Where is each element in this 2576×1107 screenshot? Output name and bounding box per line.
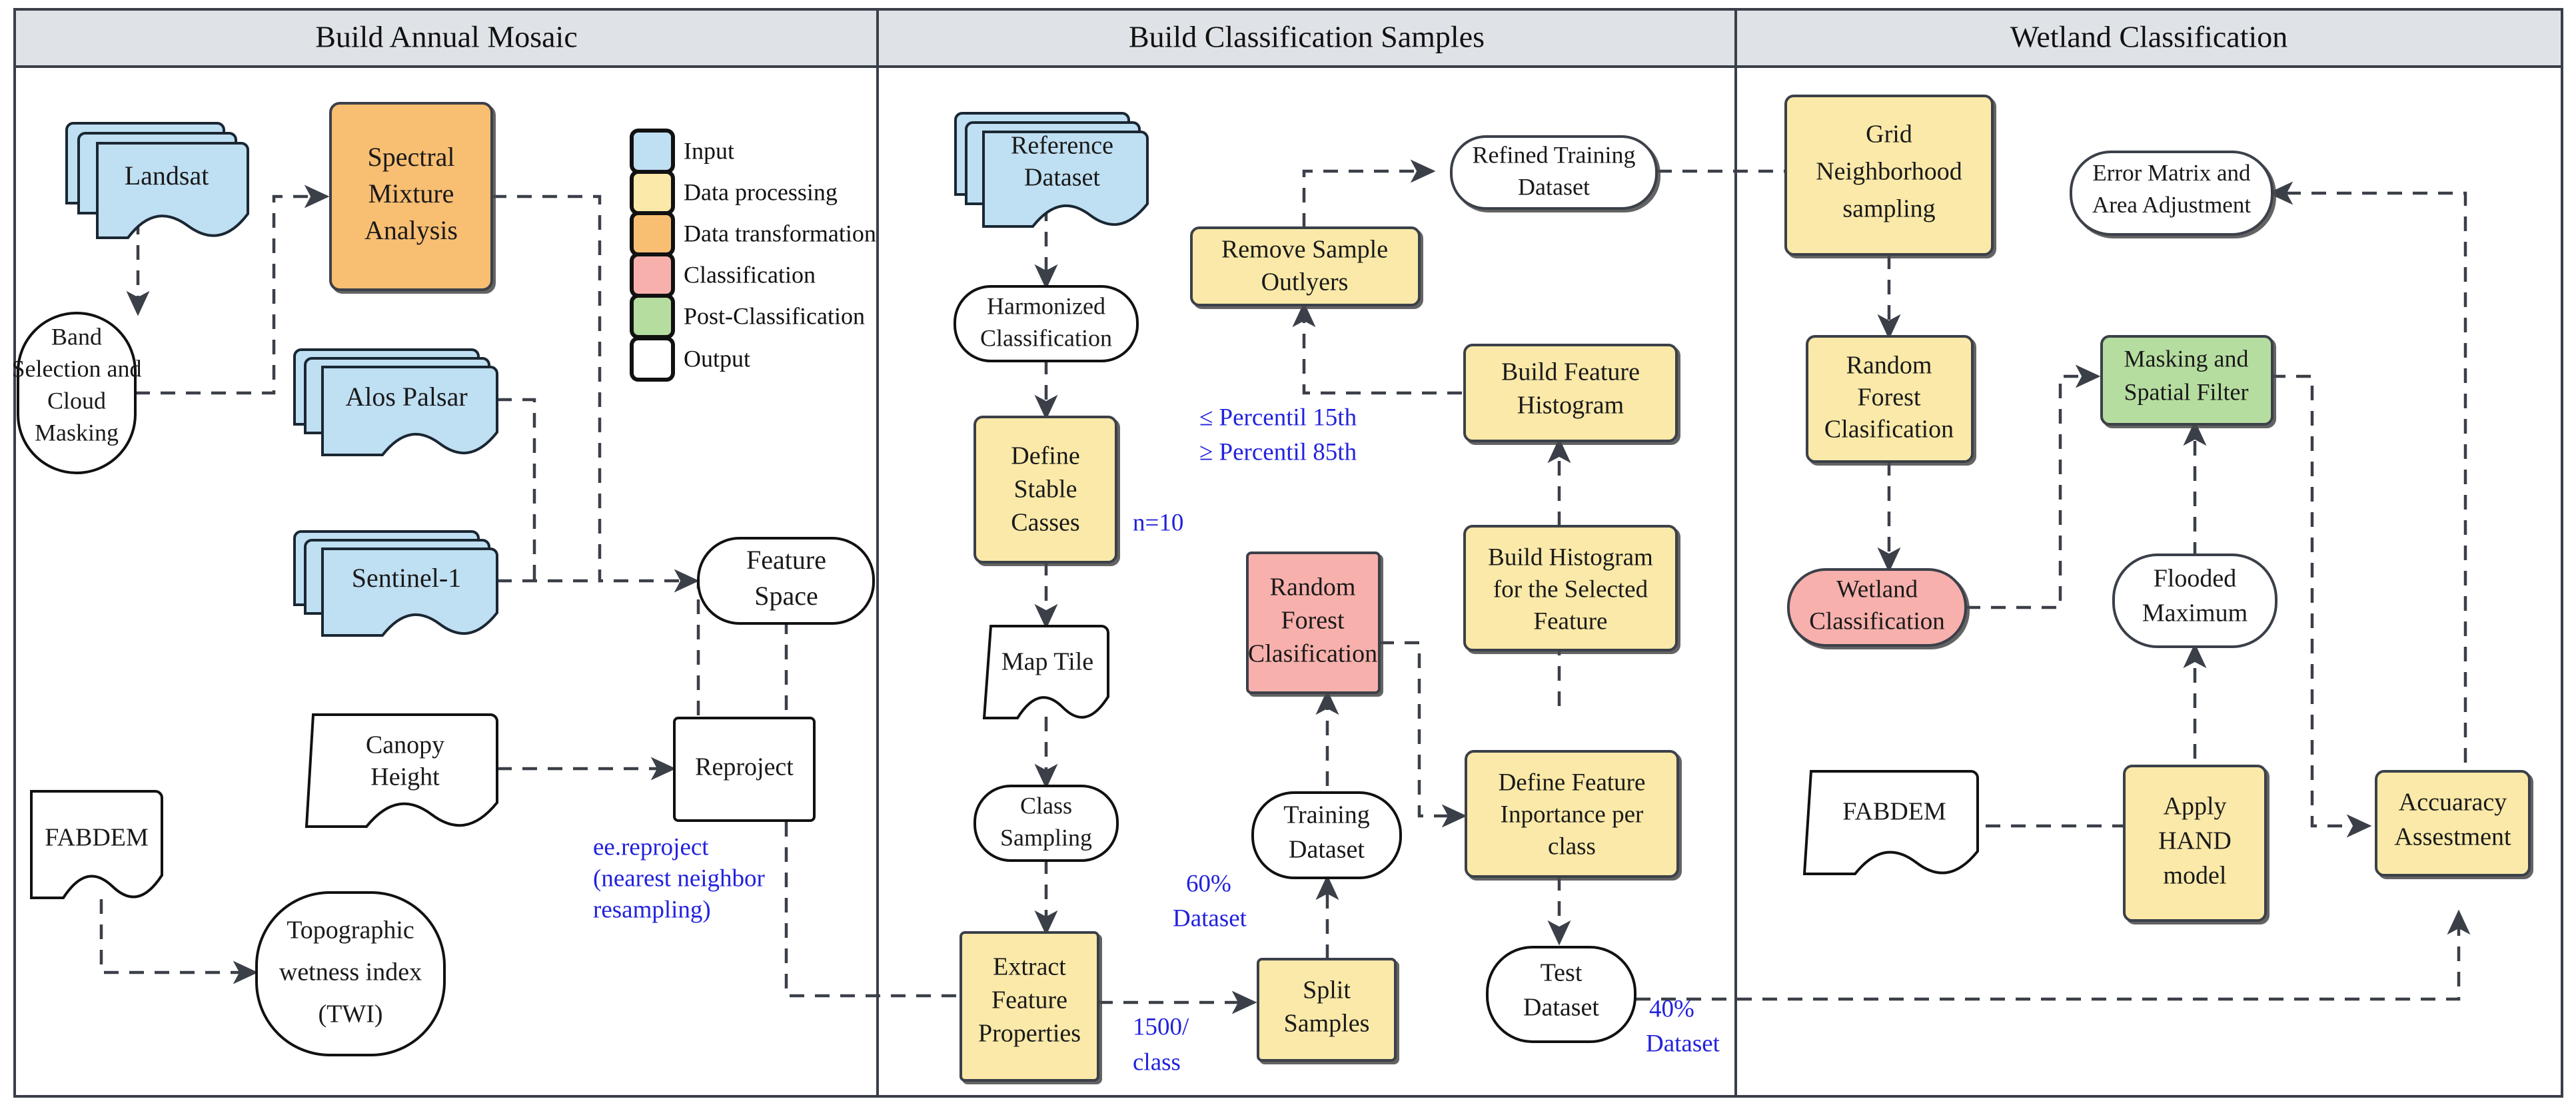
- node-label-line: Extract: [993, 953, 1066, 981]
- node-label-line: Casses: [1011, 509, 1079, 537]
- node-label-line: Error Matrix and: [2092, 160, 2251, 186]
- node-label-line: Random: [1846, 352, 1932, 380]
- node-class-sampling[interactable]: Class Sampling: [975, 786, 1117, 861]
- node-label-line: Grid: [1866, 121, 1912, 149]
- node-label-line: Analysis: [364, 215, 458, 245]
- node-label: FABDEM: [1842, 798, 1946, 826]
- legend-label: Data transformation: [684, 220, 876, 246]
- node-spectral-mixture-analysis[interactable]: Spectral Mixture Analysis: [330, 103, 492, 290]
- panel-title-3: Wetland Classification: [2010, 20, 2288, 54]
- node-sentinel-1[interactable]: Sentinel-1: [295, 532, 497, 635]
- node-label: FABDEM: [45, 824, 149, 852]
- node-label-line: Selection and: [12, 355, 142, 382]
- node-label-line: Dataset: [1024, 164, 1100, 192]
- node-training-dataset[interactable]: Training Dataset: [1253, 793, 1401, 878]
- node-alos-palsar[interactable]: Alos Palsar: [295, 350, 497, 455]
- node-label-line: Split: [1303, 976, 1351, 1004]
- node-refined-training-dataset[interactable]: Refined Training Dataset: [1451, 137, 1656, 208]
- node-label-line: class: [1548, 833, 1596, 860]
- node-band-selection[interactable]: Band Selection and Cloud Masking: [12, 313, 142, 473]
- node-label-line: Class: [1020, 792, 1072, 819]
- node-label-line: Mixture: [368, 179, 454, 208]
- node-label-line: Topographic: [287, 917, 414, 944]
- node-label-line: Feature: [1534, 607, 1608, 635]
- node-label-line: Outlyers: [1261, 268, 1349, 296]
- panel-title-2: Build Classification Samples: [1129, 20, 1485, 54]
- node-label-line: Define: [1011, 442, 1079, 470]
- node-label-line: Wetland: [1836, 575, 1918, 603]
- node-build-histogram-selected-feature[interactable]: Build Histogram for the Selected Feature: [1465, 526, 1676, 650]
- node-label-line: Maximum: [2142, 599, 2248, 627]
- node-label-line: Height: [370, 763, 440, 791]
- node-label-line: Build Histogram: [1488, 544, 1653, 571]
- node-label-line: Sampling: [1000, 824, 1092, 851]
- node-grid-neighborhood-sampling[interactable]: Grid Neighborhood sampling: [1786, 96, 1992, 254]
- node-error-matrix-area-adjustment[interactable]: Error Matrix and Area Adjustment: [2071, 152, 2272, 234]
- node-label-line: Classification: [1809, 607, 1944, 635]
- annotation-line: (nearest neighbor: [593, 865, 765, 892]
- panel-title-1: Build Annual Mosaic: [315, 20, 578, 54]
- node-label-line: Spatial Filter: [2124, 378, 2249, 405]
- node-label-line: sampling: [1842, 195, 1935, 223]
- node-label-line: Area Adjustment: [2092, 192, 2251, 218]
- node-label-line: Samples: [1284, 1010, 1370, 1038]
- node-label-line: Masking and: [2124, 345, 2249, 372]
- node-accuaracy-assestment[interactable]: Accuaracy Assestment: [2376, 771, 2529, 875]
- node-split-samples[interactable]: Split Samples: [1258, 959, 1395, 1060]
- node-remove-sample-outlyers[interactable]: Remove Sample Outlyers: [1191, 228, 1419, 305]
- node-label-line: Feature: [991, 986, 1067, 1014]
- node-random-forest-clasification-2[interactable]: Random Forest Clasification: [1807, 336, 1972, 462]
- node-label-line: Cloud: [47, 387, 106, 414]
- node-label-line: HAND: [2158, 827, 2232, 855]
- node-label-line: wetness index: [279, 958, 422, 986]
- node-label-line: Dataset: [1289, 836, 1365, 864]
- node-label-line: Accuaracy: [2399, 789, 2507, 817]
- node-label-line: Clasification: [1824, 416, 1954, 444]
- annotation-line: 40%: [1649, 995, 1694, 1022]
- node-label-line: Stable: [1014, 476, 1077, 504]
- node-label-line: Classification: [980, 324, 1112, 351]
- annotation-line: ee.reproject: [593, 833, 709, 861]
- node-label-line: Properties: [978, 1020, 1081, 1048]
- node-label-line: Spectral: [367, 142, 454, 172]
- node-label: Sentinel-1: [352, 563, 461, 593]
- node-label-line: Histogram: [1517, 392, 1624, 420]
- annotation-line: 1500/: [1133, 1013, 1189, 1040]
- node-label-line: for the Selected: [1493, 575, 1648, 603]
- node-label-line: Band: [51, 323, 102, 350]
- annotation-line: Dataset: [1173, 905, 1247, 932]
- annotation-line: resampling): [593, 896, 711, 923]
- node-twi[interactable]: Topographic wetness index (TWI): [257, 893, 444, 1055]
- legend-label: Classification: [684, 261, 816, 288]
- legend-label: Post-Classification: [684, 302, 865, 329]
- node-label-line: Assestment: [2394, 823, 2511, 851]
- annotation-line: ≤ Percentil 15th: [1199, 404, 1357, 431]
- node-apply-hand-model[interactable]: Apply HAND model: [2124, 766, 2265, 921]
- annotation-line: ≥ Percentil 85th: [1199, 438, 1357, 466]
- node-label-line: Harmonized: [987, 292, 1105, 319]
- node-label-line: Refined Training: [1472, 141, 1635, 168]
- node-label-line: Forest: [1281, 607, 1345, 635]
- node-wetland-classification[interactable]: Wetland Classification: [1788, 569, 1966, 645]
- node-feature-space[interactable]: Feature Space: [698, 538, 874, 623]
- annotation-line: Dataset: [1646, 1030, 1720, 1057]
- node-label: Reproject: [695, 753, 794, 781]
- node-label: Landsat: [125, 161, 209, 190]
- annotation-n10: n=10: [1133, 509, 1183, 536]
- node-label-line: Clasification: [1248, 640, 1377, 668]
- node-label-line: Forest: [1858, 384, 1921, 412]
- legend-label: Input: [684, 137, 734, 164]
- node-label-line: Space: [754, 581, 818, 611]
- node-label-line: Neighborhood: [1816, 158, 1962, 186]
- node-label-line: Training: [1283, 801, 1370, 829]
- annotation-line: class: [1133, 1048, 1181, 1076]
- node-harmonized-classification[interactable]: Harmonized Classification: [955, 286, 1137, 361]
- node-define-feature-importance[interactable]: Define Feature Inportance per class: [1466, 751, 1678, 877]
- node-reference-dataset[interactable]: Reference Dataset: [956, 113, 1147, 226]
- node-label-line: Canopy: [366, 731, 444, 759]
- annotation-line: 60%: [1186, 870, 1231, 897]
- node-test-dataset[interactable]: Test Dataset: [1487, 947, 1635, 1042]
- node-label-line: (TWI): [318, 1000, 382, 1028]
- node-label-line: Reference: [1011, 132, 1113, 160]
- node-masking-spatial-filter[interactable]: Masking and Spatial Filter: [2102, 336, 2272, 424]
- node-label-line: Build Feature: [1501, 358, 1640, 386]
- node-extract-feature-properties[interactable]: Extract Feature Properties: [961, 932, 1098, 1080]
- node-label-line: Flooded: [2154, 565, 2237, 593]
- legend-label: Output: [684, 345, 750, 372]
- node-flooded-maximum[interactable]: Flooded Maximum: [2114, 555, 2276, 647]
- node-label-line: Masking: [35, 419, 119, 446]
- node-random-forest-clasification[interactable]: Random Forest Clasification: [1247, 553, 1379, 693]
- node-build-feature-histogram[interactable]: Build Feature Histogram: [1465, 345, 1676, 441]
- node-label-line: Dataset: [1518, 173, 1590, 200]
- node-define-stable-casses[interactable]: Define Stable Casses: [975, 417, 1116, 562]
- node-label-line: Dataset: [1523, 994, 1599, 1022]
- node-label-line: Test: [1541, 959, 1583, 987]
- node-label-line: Define Feature: [1499, 769, 1646, 796]
- node-reproject[interactable]: Reproject: [674, 718, 814, 821]
- node-label: Map Tile: [1001, 648, 1093, 676]
- node-label-line: Inportance per: [1501, 801, 1644, 828]
- node-label: Alos Palsar: [345, 382, 467, 412]
- node-label-line: Random: [1270, 573, 1356, 601]
- node-label-line: Remove Sample: [1221, 236, 1388, 264]
- node-label-line: model: [2164, 862, 2227, 890]
- node-label-line: Apply: [2164, 793, 2227, 821]
- legend-label: Data processing: [684, 179, 838, 205]
- diagram-canvas: Build Annual Mosaic Build Classification…: [0, 0, 2576, 1107]
- node-label-line: Feature: [746, 545, 826, 575]
